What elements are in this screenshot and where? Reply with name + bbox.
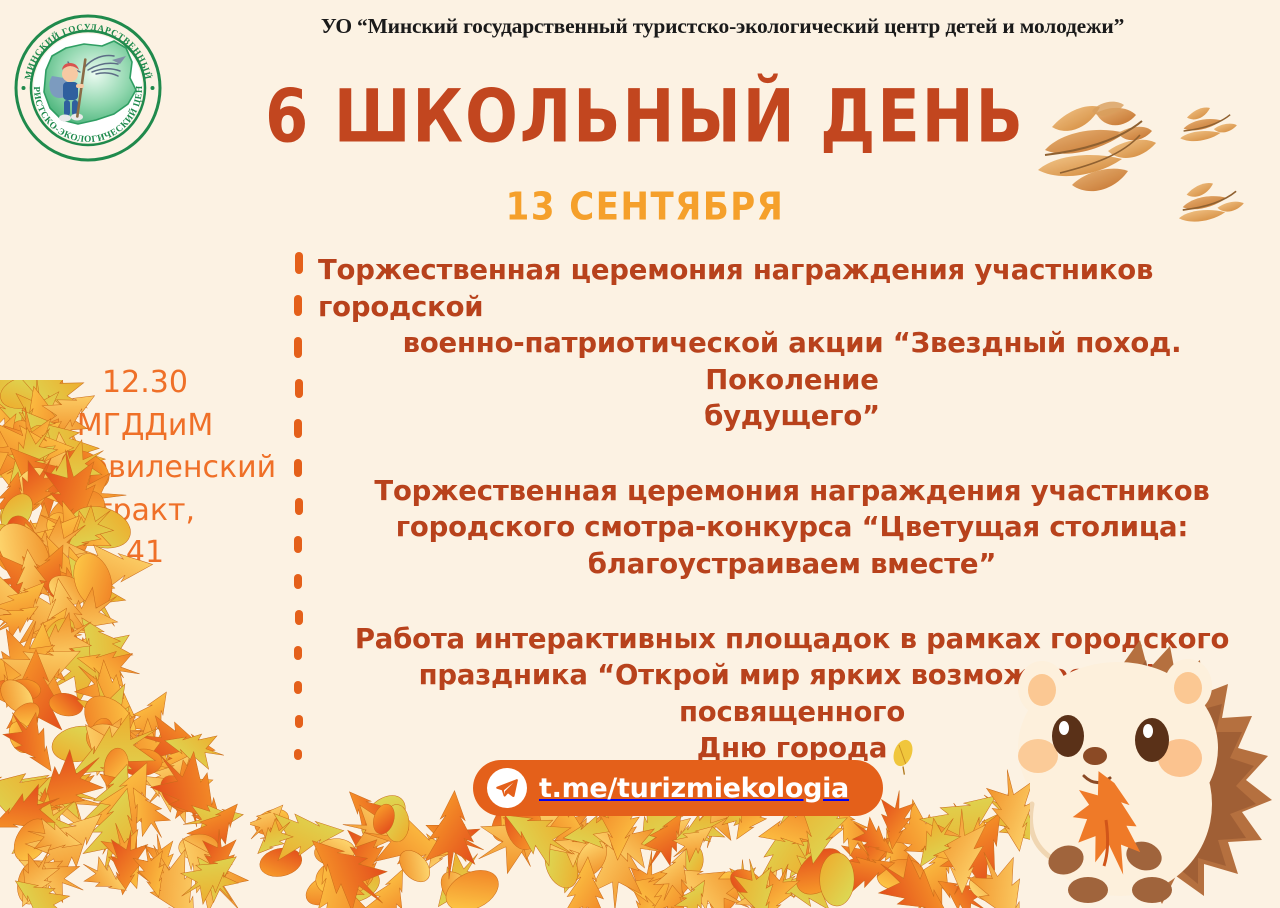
telegram-icon [487,768,527,808]
program-item: Торжественная церемония награждения учас… [318,473,1266,583]
event-time: 12.30 [0,362,290,405]
organization-title: УО “Минский государственный туристско-эк… [170,14,1275,39]
event-address-line-2: 41 [0,532,290,575]
telegram-link-button[interactable]: t.me/turizmiekologia [473,760,883,816]
program-item: Работа интерактивных площадок в рамках г… [318,621,1266,767]
program-item-line: благоустраиваем вместе” [318,546,1266,583]
program-item-line: праздника “Открой мир ярких возможностей… [318,657,1266,730]
program-item-line: Работа интерактивных площадок в рамках г… [318,621,1266,658]
program-list: Торжественная церемония награждения учас… [318,252,1266,767]
autumn-leaf-sprig-decoration [1000,55,1280,245]
when-where-block: 12.30 МГДДиМ Старовиленский тракт, 41 [0,362,290,575]
page-title: 6 ШКОЛЬНЫЙ ДЕНЬ [250,80,1040,153]
event-venue: МГДДиМ [0,405,290,448]
event-address-line-1: Старовиленский тракт, [0,447,290,532]
program-item-line: военно-патриотической акции “Звездный по… [318,325,1266,398]
organization-logo: МИНСКИЙ ГОСУДАРСТВЕННЫЙ ТУРИСТСКО-ЭКОЛОГ… [8,8,168,168]
program-item-line: Торжественная церемония награждения учас… [318,473,1266,510]
poster-canvas: МИНСКИЙ ГОСУДАРСТВЕННЫЙ ТУРИСТСКО-ЭКОЛОГ… [0,0,1280,908]
event-date: 13 СЕНТЯБРЯ [250,185,1040,230]
dashed-vertical-divider [293,252,311,772]
program-item: Торжественная церемония награждения учас… [318,252,1266,435]
telegram-link-label: t.me/turizmiekologia [539,773,849,804]
program-item-line: городского смотра-конкурса “Цветущая сто… [318,509,1266,546]
program-item-line: будущего” [318,398,1266,435]
program-item-line: Торжественная церемония награждения учас… [318,252,1266,325]
